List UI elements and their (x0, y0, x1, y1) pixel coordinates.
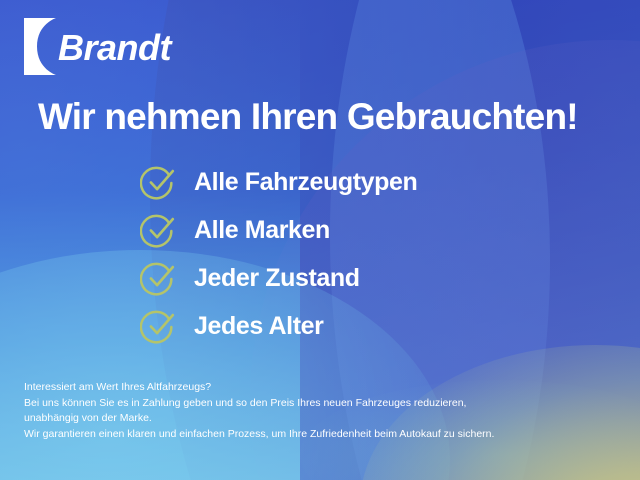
check-circle-icon (140, 307, 178, 345)
check-circle-icon (140, 211, 178, 249)
benefits-checklist: Alle Fahrzeugtypen Alle Marken Jeder Zus… (140, 158, 560, 350)
page-title: Wir nehmen Ihren Gebrauchten! (38, 97, 578, 138)
check-circle-icon (140, 259, 178, 297)
brand-logo[interactable]: Brandt (24, 18, 171, 75)
list-item: Alle Fahrzeugtypen (140, 158, 560, 206)
banner-content: Brandt Wir nehmen Ihren Gebrauchten! All… (0, 0, 640, 480)
list-item-label: Alle Fahrzeugtypen (194, 170, 417, 195)
body-line: Wir garantieren einen klaren und einfach… (24, 427, 584, 443)
list-item: Jedes Alter (140, 302, 560, 350)
check-circle-icon (140, 163, 178, 201)
list-item: Jeder Zustand (140, 254, 560, 302)
list-item-label: Jeder Zustand (194, 266, 360, 291)
brand-name: Brandt (58, 30, 171, 66)
body-copy: Interessiert am Wert Ihres Altfahrzeugs?… (24, 380, 584, 442)
brandt-bracket-mark-icon (24, 18, 56, 75)
list-item-label: Alle Marken (194, 218, 330, 243)
list-item: Alle Marken (140, 206, 560, 254)
body-line: unabhängig von der Marke. (24, 411, 584, 427)
promo-banner: Brandt Wir nehmen Ihren Gebrauchten! All… (0, 0, 640, 480)
body-line: Interessiert am Wert Ihres Altfahrzeugs? (24, 380, 584, 396)
body-line: Bei uns können Sie es in Zahlung geben u… (24, 396, 584, 412)
list-item-label: Jedes Alter (194, 314, 323, 339)
